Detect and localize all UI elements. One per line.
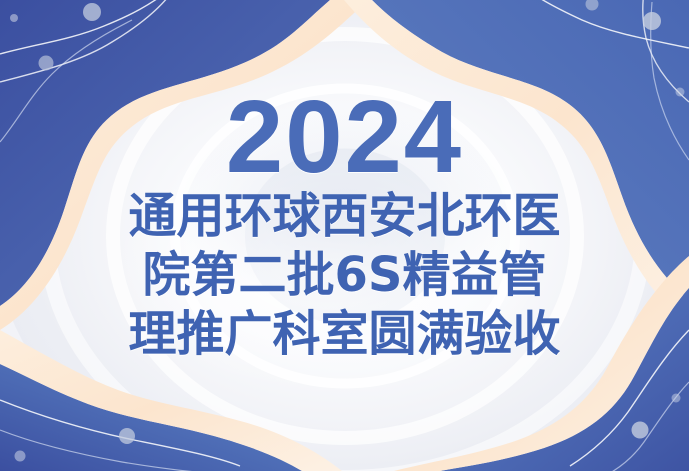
poster-year: 2024	[226, 88, 463, 186]
poster-headline: 通用环球西安北环医 院第二批6S精益管 理推广科室圆满验收	[128, 192, 560, 358]
headline-line-2: 院第二批6S精益管	[143, 251, 547, 299]
poster-content: 2024 通用环球西安北环医 院第二批6S精益管 理推广科室圆满验收	[0, 0, 689, 471]
poster-canvas: 2024 通用环球西安北环医 院第二批6S精益管 理推广科室圆满验收	[0, 0, 689, 471]
headline-line-3: 理推广科室圆满验收	[128, 310, 560, 358]
headline-line-1: 通用环球西安北环医	[128, 192, 560, 240]
